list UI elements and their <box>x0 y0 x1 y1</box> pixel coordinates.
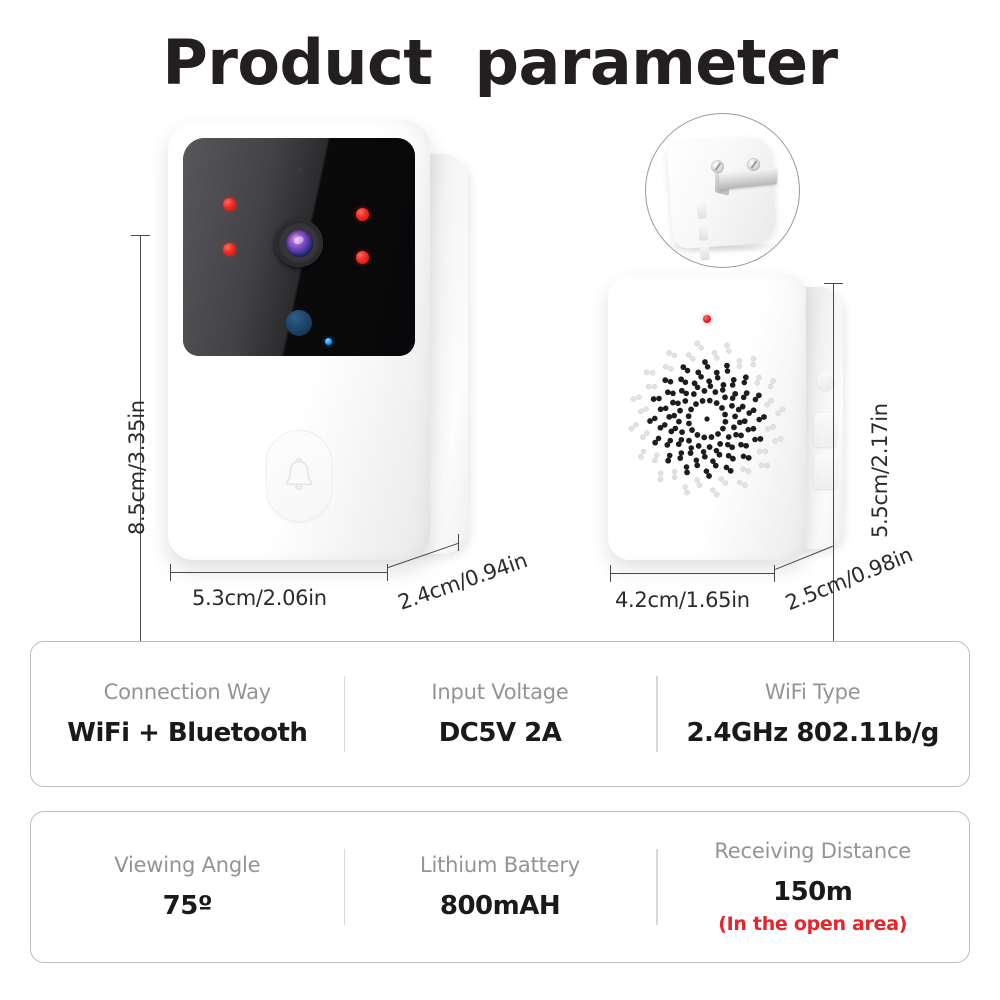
ir-led-icon <box>223 243 236 256</box>
spec-label: Viewing Angle <box>37 853 338 877</box>
doorbell-push-button[interactable] <box>266 430 332 522</box>
product-parameter-page: Product parameter <box>0 0 1000 1000</box>
chime-height-dimension-line <box>833 283 834 663</box>
lens-iris <box>286 230 313 257</box>
side-tab <box>698 225 708 241</box>
spec-label: Input Voltage <box>350 680 651 704</box>
ir-led-icon <box>356 251 369 264</box>
spec-label: Receiving Distance <box>662 839 963 863</box>
speaker-grille-icon <box>625 337 789 501</box>
spec-card-row-2: Viewing Angle 75º Lithium Battery 800mAH… <box>30 811 970 963</box>
screw-icon <box>747 158 760 171</box>
pir-sensor-icon <box>286 310 312 336</box>
spec-cell-receiving-distance: Receiving Distance 150m (In the open are… <box>656 839 969 935</box>
spec-value: WiFi + Bluetooth <box>37 718 338 748</box>
chime-width-label: 4.2cm/1.65in <box>615 588 750 612</box>
chime-status-led-icon <box>703 315 711 323</box>
chime-height-label: 5.5cm/2.17in <box>868 403 892 538</box>
side-tab <box>697 203 707 219</box>
spec-card-row-1: Connection Way WiFi + Bluetooth Input Vo… <box>30 641 970 787</box>
chime-body <box>608 275 806 560</box>
spec-cell-input-voltage: Input Voltage DC5V 2A <box>344 680 657 748</box>
doorbell-width-label: 5.3cm/2.06in <box>192 586 327 610</box>
bell-icon <box>282 457 316 495</box>
spec-value: 800mAH <box>350 891 651 921</box>
spec-cell-viewing-angle: Viewing Angle 75º <box>31 853 344 921</box>
spec-label: Connection Way <box>37 680 338 704</box>
screw-icon <box>711 160 724 173</box>
chime-width-dimension-line <box>610 573 775 574</box>
spec-value: 2.4GHz 802.11b/g <box>662 718 963 748</box>
camera-lens-icon <box>275 219 323 267</box>
ir-led-icon <box>356 208 369 221</box>
dimension-cap-tick <box>458 534 459 551</box>
dimension-cap-tick <box>131 235 150 236</box>
spec-cell-lithium-battery: Lithium Battery 800mAH <box>344 853 657 921</box>
side-tab <box>700 245 710 261</box>
volume-knob-icon <box>817 373 834 390</box>
status-led-blue-icon <box>325 338 332 345</box>
dimension-cap-tick <box>610 565 611 582</box>
dimension-cap-tick <box>774 565 775 582</box>
microphone-icon <box>297 168 302 173</box>
plug-detail-inset <box>645 113 800 268</box>
dimension-cap-tick <box>170 564 171 581</box>
dimension-cap-tick <box>824 283 843 284</box>
spec-note: (In the open area) <box>662 913 963 935</box>
doorbell-height-label: 8.5cm/3.35in <box>125 400 149 535</box>
chime-product-image <box>608 275 843 565</box>
spec-value: 150m <box>662 877 963 907</box>
spec-cell-wifi-type: WiFi Type 2.4GHz 802.11b/g <box>656 680 969 748</box>
doorbell-front-panel <box>183 138 415 356</box>
dimension-cap-tick <box>833 539 834 556</box>
page-title: Product parameter <box>0 26 1000 99</box>
spec-label: Lithium Battery <box>350 853 651 877</box>
doorbell-product-image <box>168 120 468 565</box>
spec-value: DC5V 2A <box>350 718 651 748</box>
spec-value: 75º <box>37 891 338 921</box>
ir-led-icon <box>223 198 236 211</box>
spec-cell-connection-way: Connection Way WiFi + Bluetooth <box>31 680 344 748</box>
doorbell-body <box>168 120 430 560</box>
spec-label: WiFi Type <box>662 680 963 704</box>
doorbell-width-dimension-line <box>170 572 388 573</box>
product-illustration-stage: 8.5cm/3.35in 5.3cm/2.06in 2.4cm/0.94in <box>0 105 1000 625</box>
